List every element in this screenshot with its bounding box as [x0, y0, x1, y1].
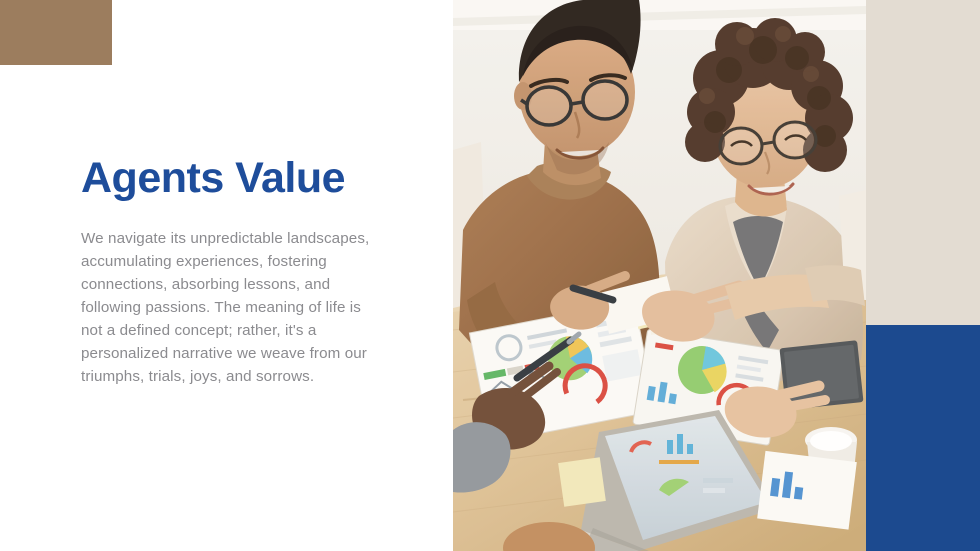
team-meeting-photo	[453, 0, 866, 551]
text-column: Agents Value We navigate its unpredictab…	[81, 155, 381, 388]
body-paragraph: We navigate its unpredictable landscapes…	[81, 227, 376, 388]
blue-accent-block	[866, 325, 980, 551]
brown-accent-block	[0, 0, 112, 65]
page-title: Agents Value	[81, 155, 381, 201]
presentation-slide: Agents Value We navigate its unpredictab…	[0, 0, 980, 551]
